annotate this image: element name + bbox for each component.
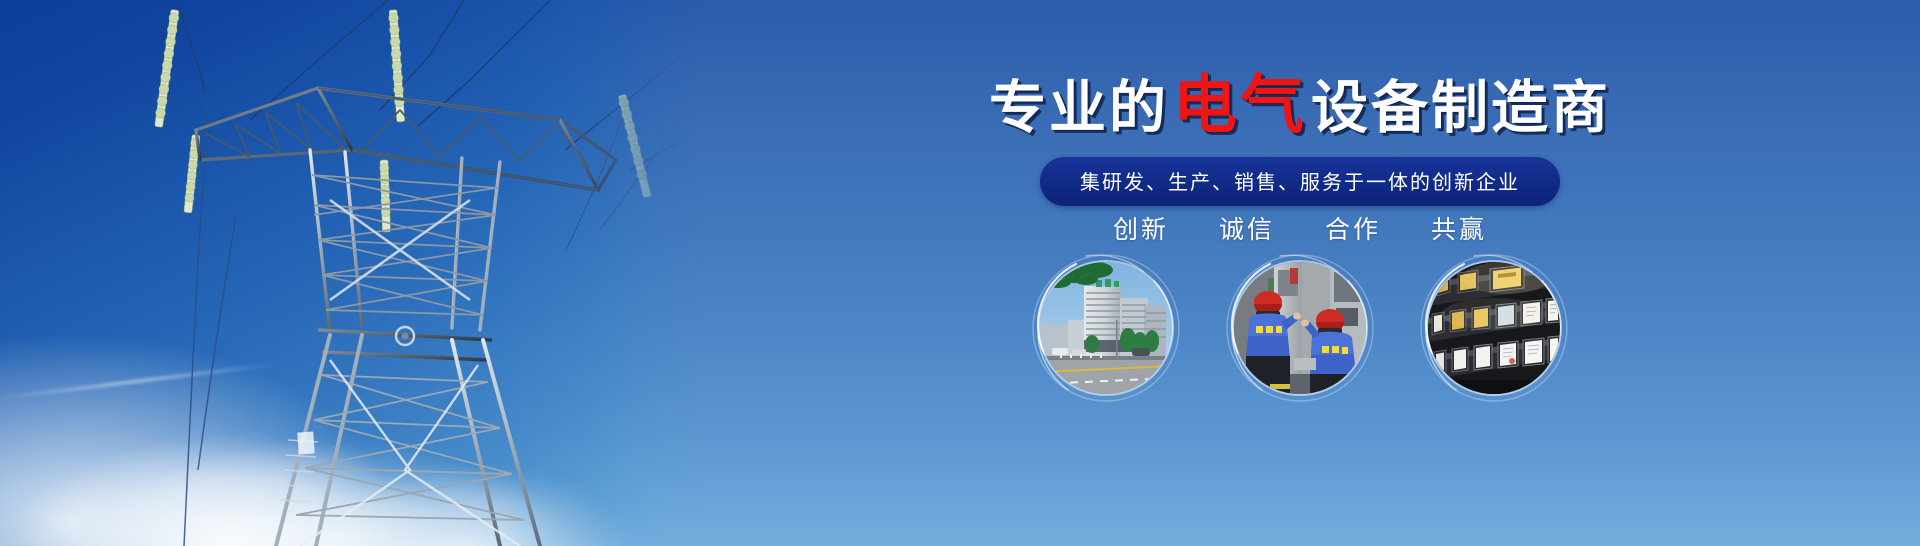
promotional-banner: 专业的电气设备制造商 集研发、生产、销售、服务于一体的创新企业 创新 诚信 合作… (0, 0, 1920, 546)
certificate-wall-image (1428, 262, 1560, 394)
headline-highlight: 电气 (1173, 69, 1307, 143)
keyword-innovation: 创新 (1113, 210, 1169, 246)
keyword-cooperation: 合作 (1325, 210, 1381, 246)
subtitle-pill-wrapper: 集研发、生产、销售、服务于一体的创新企业 (680, 157, 1920, 206)
headline-part-1: 专业的 (989, 75, 1169, 141)
keyword-winwin: 共赢 (1431, 210, 1487, 246)
banner-content: 专业的电气设备制造商 集研发、生产、销售、服务于一体的创新企业 创新 诚信 合作… (680, 0, 1920, 546)
office-building-image (1040, 262, 1172, 394)
headline: 专业的电气设备制造商 (680, 74, 1920, 138)
photo-circle-group (680, 262, 1920, 394)
pylon-illustration (0, 0, 700, 546)
keyword-list: 创新 诚信 合作 共赢 (680, 210, 1920, 246)
keyword-integrity: 诚信 (1219, 210, 1275, 246)
subtitle-pill: 集研发、生产、销售、服务于一体的创新企业 (1040, 157, 1560, 206)
transmission-tower-photo (0, 0, 700, 546)
headline-part-2: 设备制造商 (1311, 75, 1611, 141)
photo-circle-workers-panel (1234, 262, 1366, 394)
workers-panel-image (1234, 262, 1366, 394)
photo-circle-office-building (1040, 262, 1172, 394)
photo-circle-certificate-wall (1428, 262, 1560, 394)
